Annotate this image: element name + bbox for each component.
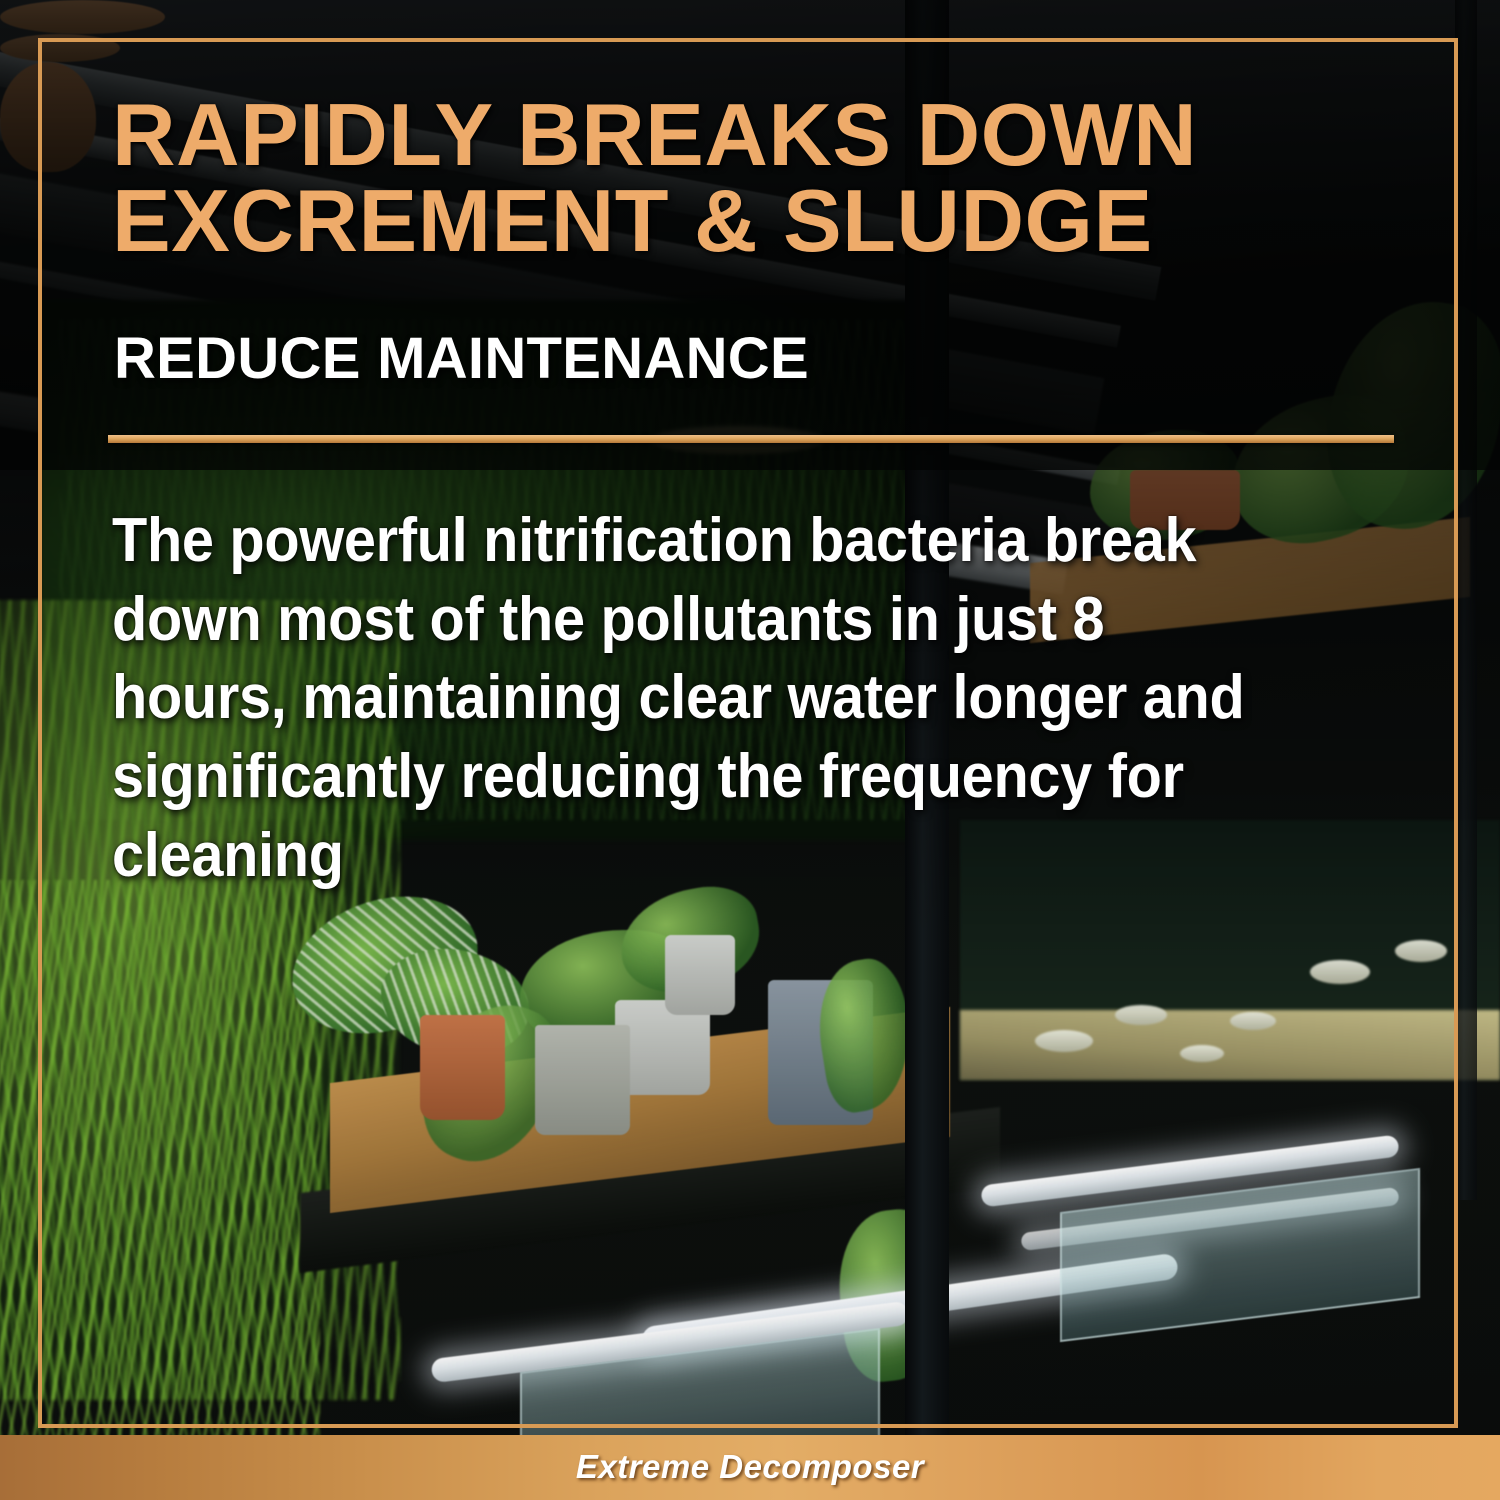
subheadline: REDUCE MAINTENANCE bbox=[114, 325, 809, 392]
headline: RAPIDLY BREAKS DOWN EXCREMENT & SLUDGE bbox=[112, 92, 1292, 264]
section-divider bbox=[108, 435, 1394, 443]
footer-product-label: Extreme Decomposer bbox=[0, 1448, 1500, 1486]
product-infographic-poster: RAPIDLY BREAKS DOWN EXCREMENT & SLUDGE R… bbox=[0, 0, 1500, 1500]
body-paragraph: The powerful nitrification bacteria brea… bbox=[112, 502, 1293, 896]
poster-content: RAPIDLY BREAKS DOWN EXCREMENT & SLUDGE R… bbox=[0, 0, 1500, 1500]
